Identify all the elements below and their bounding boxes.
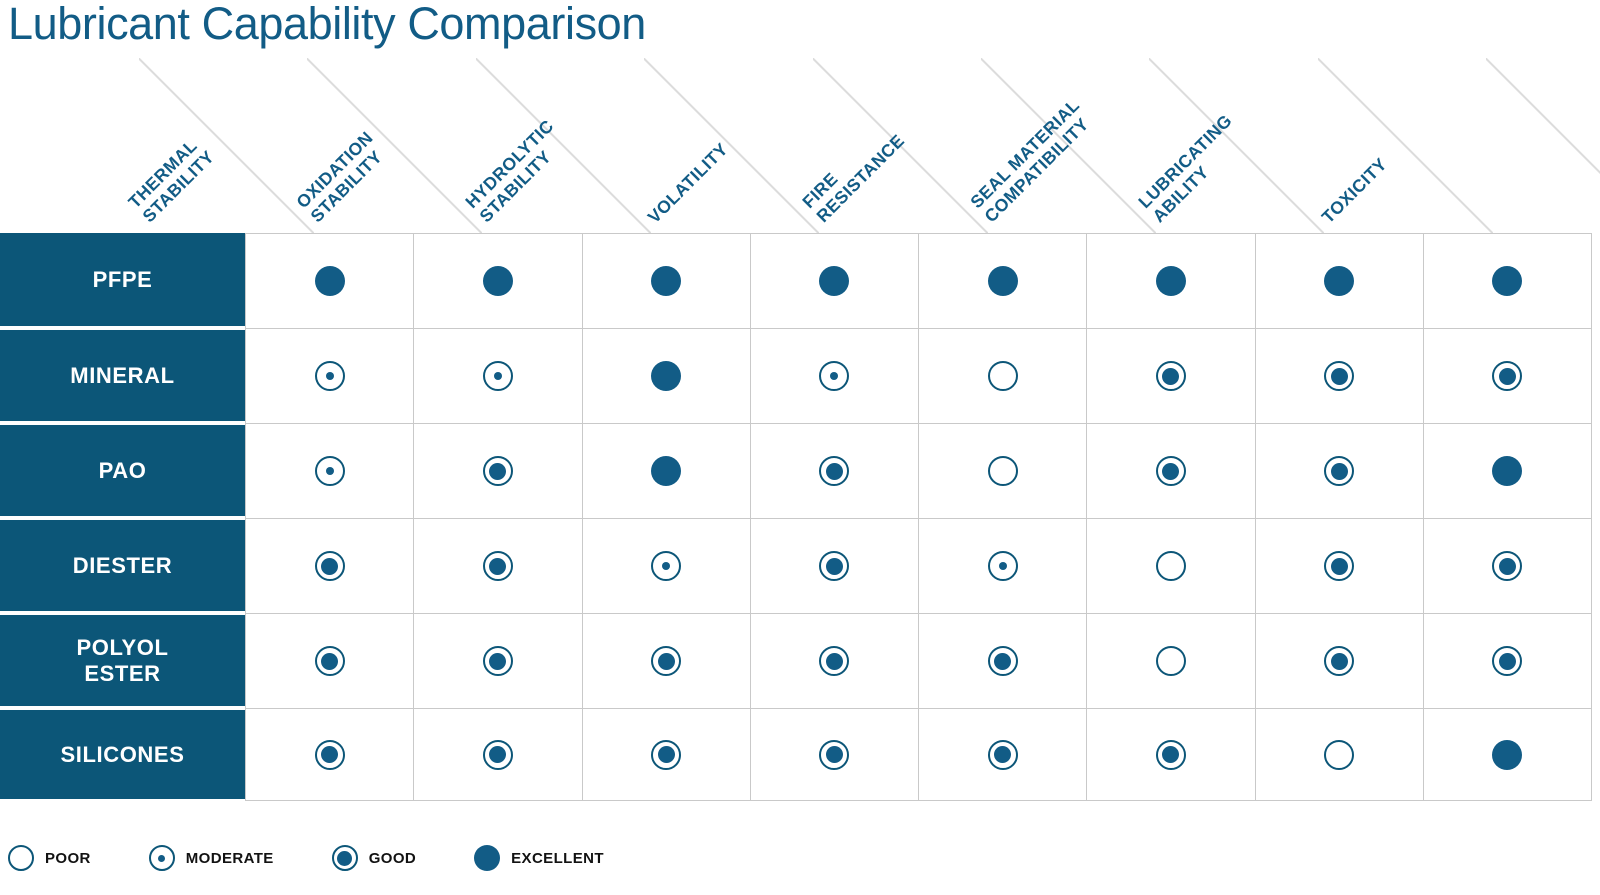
- rating-good-icon: [651, 646, 681, 676]
- cell-silicones-lubricating-ability: [1255, 708, 1423, 801]
- rating-excellent-icon: [1492, 740, 1522, 770]
- rating-good-icon: [1492, 646, 1522, 676]
- legend-label: EXCELLENT: [511, 850, 604, 867]
- cell-polyol-ester-oxidation-stability: [413, 613, 581, 708]
- cell-pfpe-fire-resistance: [918, 233, 1086, 328]
- cell-polyol-ester-thermal-stability: [245, 613, 413, 708]
- cell-pfpe-seal-material-compatibility: [1086, 233, 1254, 328]
- rating-good-icon: [1324, 456, 1354, 486]
- cell-pao-toxicity: [1423, 423, 1592, 518]
- cell-pao-thermal-stability: [245, 423, 413, 518]
- cell-mineral-toxicity: [1423, 328, 1592, 423]
- cell-silicones-volatility: [750, 708, 918, 801]
- table-row: MINERAL: [0, 328, 1592, 423]
- cell-mineral-volatility: [750, 328, 918, 423]
- row-label-pfpe: PFPE: [0, 233, 245, 328]
- rating-excellent-icon: [651, 361, 681, 391]
- rating-excellent-icon: [1324, 266, 1354, 296]
- rating-excellent-icon: [315, 266, 345, 296]
- row-cells: [245, 233, 1592, 328]
- row-label-pao: PAO: [0, 423, 245, 518]
- column-header-label: VOLATILITY: [644, 139, 732, 227]
- page-title: Lubricant Capability Comparison: [8, 0, 646, 50]
- rating-good-icon: [988, 740, 1018, 770]
- rating-good-icon: [1156, 740, 1186, 770]
- table-row: PAO: [0, 423, 1592, 518]
- legend-item-moderate: MODERATE: [149, 845, 274, 871]
- rating-excellent-icon: [1492, 456, 1522, 486]
- cell-polyol-ester-fire-resistance: [918, 613, 1086, 708]
- rating-poor-icon: [1156, 551, 1186, 581]
- cell-pao-volatility: [750, 423, 918, 518]
- rating-moderate-icon: [149, 845, 175, 871]
- column-header-toxicity: TOXICITY: [1318, 58, 1486, 233]
- rating-excellent-icon: [1156, 266, 1186, 296]
- cell-silicones-toxicity: [1423, 708, 1592, 801]
- cell-diester-seal-material-compatibility: [1086, 518, 1254, 613]
- rating-good-icon: [315, 740, 345, 770]
- cell-mineral-fire-resistance: [918, 328, 1086, 423]
- rating-good-icon: [332, 845, 358, 871]
- column-header-label: OXIDATION STABILITY: [293, 128, 392, 227]
- header-diagonal-divider: [1486, 58, 1600, 233]
- capability-matrix: PFPEMINERALPAODIESTERPOLYOL ESTERSILICON…: [0, 233, 1592, 801]
- rating-poor-icon: [8, 845, 34, 871]
- rating-good-icon: [1156, 456, 1186, 486]
- rating-moderate-icon: [483, 361, 513, 391]
- rating-good-icon: [483, 456, 513, 486]
- cell-mineral-seal-material-compatibility: [1086, 328, 1254, 423]
- cell-mineral-thermal-stability: [245, 328, 413, 423]
- column-header-lubricating-ability: LUBRICATING ABILITY: [1149, 58, 1317, 233]
- cell-diester-oxidation-stability: [413, 518, 581, 613]
- cell-mineral-lubricating-ability: [1255, 328, 1423, 423]
- rating-good-icon: [819, 740, 849, 770]
- column-header-label: THERMAL STABILITY: [124, 133, 218, 227]
- rating-poor-icon: [988, 456, 1018, 486]
- rating-good-icon: [651, 740, 681, 770]
- legend-label: GOOD: [369, 850, 416, 867]
- row-cells: [245, 518, 1592, 613]
- column-header-label: HYDROLYTIC STABILITY: [461, 116, 572, 227]
- legend: POORMODERATEGOODEXCELLENT: [8, 845, 662, 871]
- rating-excellent-icon: [651, 266, 681, 296]
- cell-diester-fire-resistance: [918, 518, 1086, 613]
- cell-pao-fire-resistance: [918, 423, 1086, 518]
- column-header-label: FIRE RESISTANCE: [798, 117, 908, 227]
- cell-pfpe-thermal-stability: [245, 233, 413, 328]
- rating-poor-icon: [1324, 740, 1354, 770]
- legend-label: POOR: [45, 850, 91, 867]
- cell-polyol-ester-volatility: [750, 613, 918, 708]
- rating-good-icon: [315, 551, 345, 581]
- rating-excellent-icon: [988, 266, 1018, 296]
- cell-diester-lubricating-ability: [1255, 518, 1423, 613]
- rating-good-icon: [1156, 361, 1186, 391]
- rating-good-icon: [1492, 361, 1522, 391]
- rating-good-icon: [1324, 646, 1354, 676]
- table-row: PFPE: [0, 233, 1592, 328]
- cell-mineral-oxidation-stability: [413, 328, 581, 423]
- cell-polyol-ester-seal-material-compatibility: [1086, 613, 1254, 708]
- rating-moderate-icon: [988, 551, 1018, 581]
- row-label-silicones: SILICONES: [0, 708, 245, 801]
- column-header-volatility: VOLATILITY: [644, 58, 812, 233]
- cell-pfpe-oxidation-stability: [413, 233, 581, 328]
- rating-excellent-icon: [474, 845, 500, 871]
- column-header-thermal-stability: THERMAL STABILITY: [139, 58, 307, 233]
- rating-poor-icon: [988, 361, 1018, 391]
- table-row: SILICONES: [0, 708, 1592, 801]
- cell-polyol-ester-hydrolytic-stability: [582, 613, 750, 708]
- cell-diester-thermal-stability: [245, 518, 413, 613]
- rating-good-icon: [483, 740, 513, 770]
- table-row: DIESTER: [0, 518, 1592, 613]
- rating-good-icon: [1324, 361, 1354, 391]
- rating-good-icon: [483, 646, 513, 676]
- cell-pao-oxidation-stability: [413, 423, 581, 518]
- cell-diester-hydrolytic-stability: [582, 518, 750, 613]
- header-diagonal-divider-end: [1486, 58, 1600, 233]
- column-header-label: TOXICITY: [1317, 154, 1390, 227]
- rating-good-icon: [1324, 551, 1354, 581]
- cell-pao-seal-material-compatibility: [1086, 423, 1254, 518]
- rating-good-icon: [1492, 551, 1522, 581]
- cell-pfpe-hydrolytic-stability: [582, 233, 750, 328]
- cell-diester-volatility: [750, 518, 918, 613]
- cell-pao-hydrolytic-stability: [582, 423, 750, 518]
- row-cells: [245, 423, 1592, 518]
- cell-silicones-fire-resistance: [918, 708, 1086, 801]
- cell-silicones-seal-material-compatibility: [1086, 708, 1254, 801]
- column-header-label: LUBRICATING ABILITY: [1135, 111, 1251, 227]
- cell-silicones-hydrolytic-stability: [582, 708, 750, 801]
- cell-silicones-thermal-stability: [245, 708, 413, 801]
- rating-moderate-icon: [819, 361, 849, 391]
- row-label-diester: DIESTER: [0, 518, 245, 613]
- rating-excellent-icon: [819, 266, 849, 296]
- rating-good-icon: [483, 551, 513, 581]
- row-label-mineral: MINERAL: [0, 328, 245, 423]
- row-cells: [245, 613, 1592, 708]
- cell-silicones-oxidation-stability: [413, 708, 581, 801]
- legend-item-good: GOOD: [332, 845, 416, 871]
- column-header-oxidation-stability: OXIDATION STABILITY: [307, 58, 475, 233]
- rating-moderate-icon: [315, 361, 345, 391]
- row-cells: [245, 328, 1592, 423]
- rating-good-icon: [819, 646, 849, 676]
- column-header-label: SEAL MATERIAL COMPATIBILITY: [966, 95, 1098, 227]
- rating-excellent-icon: [1492, 266, 1522, 296]
- legend-item-poor: POOR: [8, 845, 91, 871]
- rating-excellent-icon: [483, 266, 513, 296]
- row-cells: [245, 708, 1592, 801]
- cell-mineral-hydrolytic-stability: [582, 328, 750, 423]
- rating-excellent-icon: [651, 456, 681, 486]
- cell-pao-lubricating-ability: [1255, 423, 1423, 518]
- table-row: POLYOL ESTER: [0, 613, 1592, 708]
- cell-pfpe-volatility: [750, 233, 918, 328]
- rating-good-icon: [988, 646, 1018, 676]
- cell-pfpe-toxicity: [1423, 233, 1592, 328]
- cell-polyol-ester-lubricating-ability: [1255, 613, 1423, 708]
- rating-good-icon: [315, 646, 345, 676]
- rating-good-icon: [819, 456, 849, 486]
- rating-good-icon: [819, 551, 849, 581]
- cell-pfpe-lubricating-ability: [1255, 233, 1423, 328]
- column-header-seal-material-compatibility: SEAL MATERIAL COMPATIBILITY: [981, 58, 1149, 233]
- row-label-polyol-ester: POLYOL ESTER: [0, 613, 245, 708]
- column-header-fire-resistance: FIRE RESISTANCE: [813, 58, 981, 233]
- cell-polyol-ester-toxicity: [1423, 613, 1592, 708]
- legend-label: MODERATE: [186, 850, 274, 867]
- column-header-hydrolytic-stability: HYDROLYTIC STABILITY: [476, 58, 644, 233]
- legend-item-excellent: EXCELLENT: [474, 845, 604, 871]
- rating-moderate-icon: [651, 551, 681, 581]
- rating-moderate-icon: [315, 456, 345, 486]
- cell-diester-toxicity: [1423, 518, 1592, 613]
- column-header-band: THERMAL STABILITYOXIDATION STABILITYHYDR…: [0, 58, 1600, 233]
- rating-poor-icon: [1156, 646, 1186, 676]
